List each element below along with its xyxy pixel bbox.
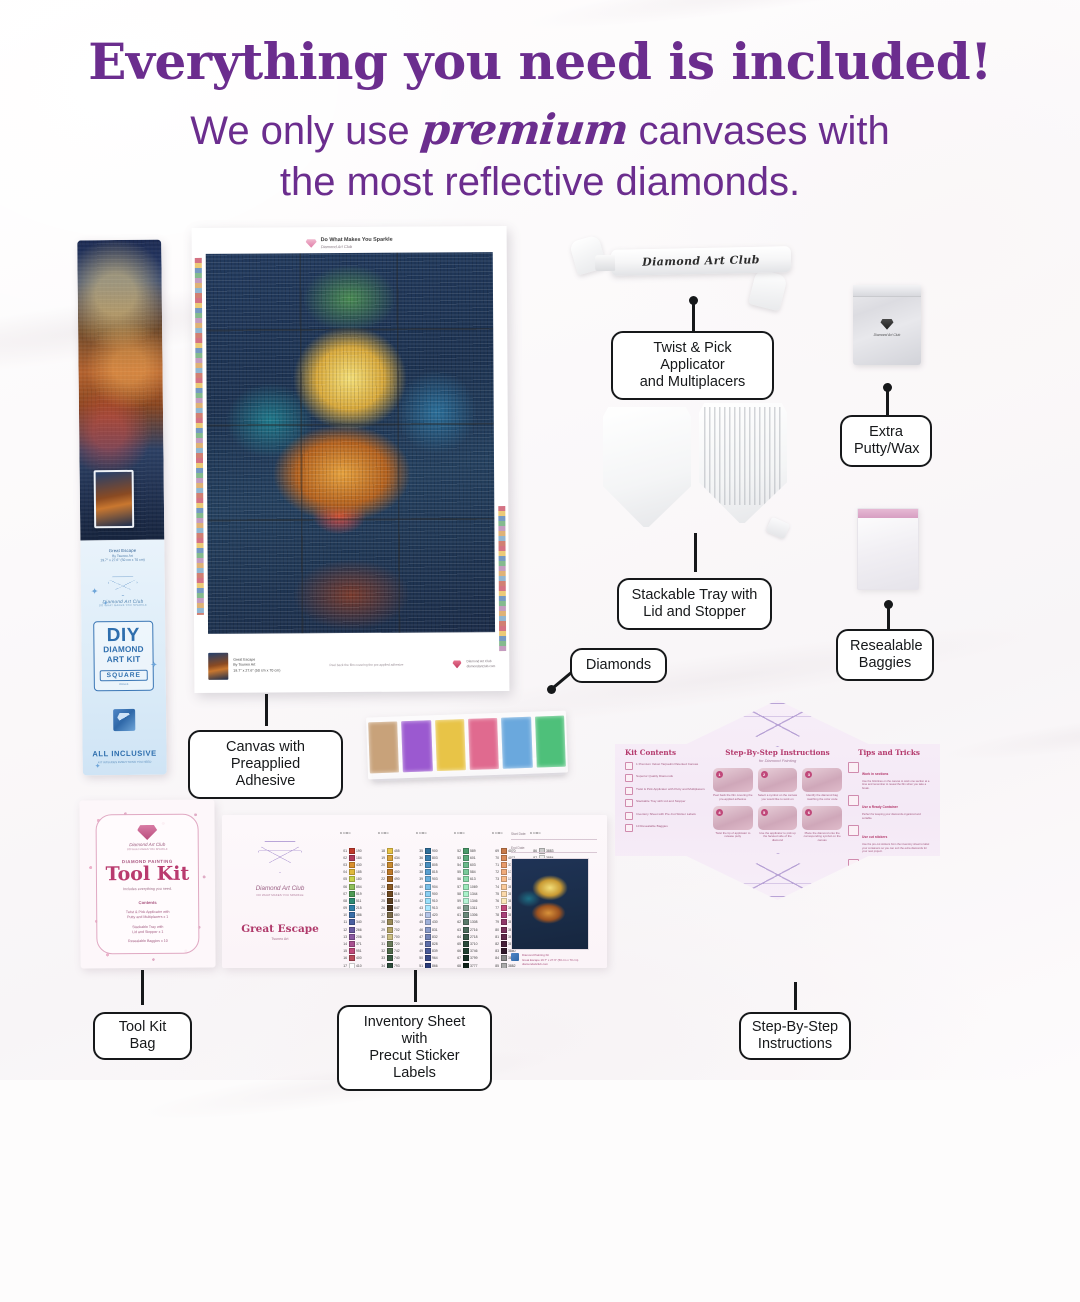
inventory-number: 33 [378, 956, 385, 960]
inventory-dmc: 1344 [470, 892, 483, 896]
kit-contents-heading: Kit Contents [625, 748, 707, 757]
diamond-icon [881, 319, 894, 330]
inventory-dmc: 720 [394, 942, 407, 946]
inventory-swatch [425, 891, 431, 897]
diamond-icon [258, 841, 302, 873]
inventory-row: 632716 [454, 926, 483, 933]
inventory-swatch [349, 927, 355, 933]
inventory-row: 12266 [340, 926, 369, 933]
inventory-number: 52 [454, 849, 461, 853]
inventory-number: 65 [454, 942, 461, 946]
inventory-swatch [463, 948, 469, 954]
inventory-dmc: 647 [394, 906, 407, 910]
inventory-swatch [387, 869, 393, 875]
inventory-number: 10 [340, 913, 347, 917]
inventory-swatch [349, 941, 355, 947]
inventory-swatch [501, 862, 507, 868]
inventory-swatch [387, 927, 393, 933]
inventory-swatch [463, 905, 469, 911]
inventory-number: 55 [454, 870, 461, 874]
inventory-dmc: 1069 [470, 885, 483, 889]
step-number: 3 [805, 771, 812, 778]
inventory-swatch [501, 884, 507, 890]
inventory-swatch [349, 891, 355, 897]
inventory-number: 43 [416, 906, 423, 910]
stackable-tray-grooved [699, 403, 787, 523]
inventory-number: 42 [416, 899, 423, 903]
inventory-row: 36803 [416, 854, 445, 861]
inventory-number: 48 [416, 942, 423, 946]
stackable-tray-lid [603, 407, 691, 527]
subtitle-pre: We only use [190, 109, 421, 153]
diamond-baggies-strip [366, 711, 568, 780]
step-text: Use the applicator to pick up the facete… [758, 832, 798, 843]
step-photo: 4 [713, 806, 753, 830]
inventory-dmc: 702 [394, 928, 407, 932]
inventory-row: 04185 [340, 869, 369, 876]
inventory-row: 19434 [378, 854, 407, 861]
toolkit-content-item: Resealable Baggies x 10 [97, 939, 198, 945]
kit-item-label: Stackable Tray with Lid and Stopper [636, 799, 686, 803]
inventory-start-rule [511, 839, 597, 840]
kit-item-icon [625, 799, 633, 807]
inventory-dmc: 2718 [470, 935, 483, 939]
inventory-swatch [349, 905, 355, 911]
diy-box-panel: Great Escape By Tsuneo Art 19.7" x 27.6"… [80, 540, 166, 776]
inventory-row: 52589 [454, 847, 483, 854]
inventory-row: 34793 [378, 962, 407, 968]
inventory-row: 663746 [454, 948, 483, 955]
inventory-number: 17 [340, 964, 347, 968]
inventory-number: 34 [378, 964, 385, 968]
sparkle-icon: ✦ [103, 600, 108, 607]
gem-icon [511, 953, 519, 961]
inventory-dmc: 900 [432, 892, 445, 896]
instructions-subtitle: for Diamond Painting [713, 758, 842, 763]
step-photo: 6 [802, 806, 842, 830]
inventory-number: 74 [492, 885, 499, 889]
inventory-swatch [501, 855, 507, 861]
step-number: 2 [761, 771, 768, 778]
inventory-row: 16400 [340, 955, 369, 962]
tip-title: Use cut stickers [862, 835, 887, 839]
step-text: Place the diamond onto the corresponding… [802, 832, 842, 843]
instruction-step: 6Place the diamond onto the correspondin… [802, 806, 842, 843]
inventory-row: 17410 [340, 962, 369, 968]
inventory-swatch [425, 876, 431, 882]
inventory-row: 10386 [340, 912, 369, 919]
inventory-number: 08 [340, 899, 347, 903]
tip-text: Perfect for keeping your diamonds organi… [862, 813, 930, 820]
inventory-row: 22490 [378, 876, 407, 883]
inventory-row: 44420 [416, 912, 445, 919]
pen-brand-text: Diamond Art Club [642, 253, 760, 268]
callout-diamonds[interactable]: Diamonds [570, 648, 667, 683]
inventory-number: 37 [416, 863, 423, 867]
step-photo: 2 [758, 768, 798, 792]
inventory-dmc: 3777 [470, 964, 483, 968]
inventory-number: 03 [340, 863, 347, 867]
inventory-number: 24 [378, 892, 385, 896]
canvas-color-strip-right [498, 506, 506, 651]
inventory-number: 31 [378, 942, 385, 946]
inventory-dmc: 371 [356, 942, 369, 946]
inventory-number: 30 [378, 935, 385, 939]
inventory-dmc: 400 [394, 870, 407, 874]
callout-applicator[interactable]: Twist & Pick Applicator and Multiplacers [611, 331, 774, 400]
inventory-row: 581344 [454, 890, 483, 897]
inventory-dmc: 1306 [470, 913, 483, 917]
toolkit-content-item: Lid and Stopper x 1 [97, 929, 198, 935]
kit-item-icon [625, 762, 633, 770]
inventory-row: 55584 [454, 869, 483, 876]
inventory-end-rule [511, 852, 597, 853]
inventory-number: 32 [378, 949, 385, 953]
tip-item: Work in sectionsUse the fold-lines on th… [848, 762, 930, 790]
subtitle-script-premium: premium [418, 103, 630, 157]
inventory-row: 05180 [340, 876, 369, 883]
canvas-tagline: Do What Makes You Sparkle [321, 237, 393, 244]
inventory-swatch [425, 848, 431, 854]
inventory-swatch [501, 898, 507, 904]
inventory-number: 29 [378, 928, 385, 932]
inventory-footer: Diamond Painting Kit Great Escape 19.7" … [511, 953, 597, 966]
inventory-swatch [349, 898, 355, 904]
kit-item-icon [625, 812, 633, 820]
inventory-swatch [425, 905, 431, 911]
inventory-swatch [463, 848, 469, 854]
inventory-swatch [349, 876, 355, 882]
kit-item-label: 10 Resealable Baggies [636, 824, 668, 828]
inventory-dmc: 340 [356, 920, 369, 924]
inventory-number: 12 [340, 928, 347, 932]
instruction-step: 5Use the applicator to pick up the facet… [758, 806, 798, 843]
leader-line [887, 604, 890, 630]
inventory-row: 653710 [454, 940, 483, 947]
inventory-right-panel: Start Date: End Date: Diamond Painting K… [511, 831, 597, 966]
tips-heading: Tips and Tricks [848, 748, 930, 757]
leader-line [141, 970, 144, 1005]
inventory-design-name: Great Escape [232, 923, 328, 935]
kit-item-label: Superior Quality Diamonds [636, 774, 673, 778]
inventory-number: 04 [340, 870, 347, 874]
callout-tray[interactable]: Stackable Tray with Lid and Stopper [617, 578, 772, 630]
inventory-row: 35900 [416, 847, 445, 854]
callout-instructions[interactable]: Step-By-Step Instructions [739, 1012, 851, 1060]
inventory-dmc: 904 [432, 885, 445, 889]
inventory-row: 33740 [378, 955, 407, 962]
inventory-number: 20 [378, 863, 385, 867]
inventory-number: 19 [378, 856, 385, 860]
inventory-row: 37805 [416, 861, 445, 868]
inventory-number: 35 [416, 849, 423, 853]
leader-line [886, 387, 889, 416]
inventory-swatch [501, 919, 507, 925]
inventory-dmc: 386 [356, 913, 369, 917]
inventory-swatch [387, 905, 393, 911]
inventory-number: 73 [492, 877, 499, 881]
inventory-swatch [501, 948, 507, 954]
inventory-row: 38815 [416, 869, 445, 876]
diamond-outline-icon [718, 853, 838, 897]
inventory-row: 39903 [416, 876, 445, 883]
tips-column: Tips and Tricks Work in sectionsUse the … [848, 748, 930, 852]
tip-title: Work in sections [862, 772, 888, 776]
instruction-body: Kit Contents 1 Premium Velvet Tarpaulin … [615, 748, 940, 852]
inventory-brand: Diamond Art Club [232, 885, 328, 892]
callout-toolkit[interactable]: Tool Kit Bag [93, 1012, 192, 1060]
inventory-swatch [425, 862, 431, 868]
diy-size: 19.7" x 27.6" (50 cm x 70 cm) [81, 558, 165, 563]
diamond-baggie [366, 716, 401, 779]
inventory-number: 58 [454, 892, 461, 896]
inventory-swatch [425, 884, 431, 890]
inventory-row: 47832 [416, 933, 445, 940]
inventory-swatch [501, 848, 507, 854]
kit-item-label: 1 Premium Velvet Tarpaulin Patented Canv… [636, 762, 698, 766]
inventory-swatch [349, 919, 355, 925]
kit-contents-item: Twist & Pick Applicator with Putty and M… [625, 787, 707, 795]
kit-item-icon [625, 824, 633, 832]
inventory-row: 32742 [378, 948, 407, 955]
inventory-dmc: 680 [394, 913, 407, 917]
inventory-dmc: 1346 [470, 899, 483, 903]
inventory-row: 06854 [340, 883, 369, 890]
inventory-dmc: 206 [356, 935, 369, 939]
inventory-dmc: 518 [394, 899, 407, 903]
inventory-row: 28700 [378, 919, 407, 926]
diy-brand-tagline: DO WHAT MAKES YOU SPARKLE [81, 604, 165, 608]
callout-putty[interactable]: Extra Putty/Wax [840, 415, 932, 467]
leader-line [794, 982, 797, 1010]
inventory-row: 23498 [378, 883, 407, 890]
tray-stopper [766, 517, 791, 540]
inventory-number: 53 [454, 856, 461, 860]
canvas-footer-size: 19.7" x 27.6" (50 cm x 70 cm) [233, 668, 280, 674]
inventory-number: 16 [340, 956, 347, 960]
inventory-row: 26647 [378, 905, 407, 912]
step-photo: 1 [713, 768, 753, 792]
diy-all-inclusive: ALL INCLUSIVE [83, 748, 167, 758]
inventory-row: 30700 [378, 933, 407, 940]
inventory-swatch [463, 934, 469, 940]
inventory-number: 22 [378, 877, 385, 881]
inventory-dmc: 511 [356, 899, 369, 903]
inventory-row: 03430 [340, 861, 369, 868]
inventory-row: 48828 [416, 940, 445, 947]
instruction-step: 4Twist the tip of applicator to release … [713, 806, 753, 843]
inventory-swatch [501, 955, 507, 961]
inventory-dmc: 740 [394, 956, 407, 960]
inventory-row: 07519 [340, 890, 369, 897]
inventory-swatch [425, 855, 431, 861]
inventory-branding: Diamond Art Club DO WHAT MAKES YOU SPARK… [232, 841, 328, 941]
inventory-row: 683777 [454, 962, 483, 968]
inventory-swatch [463, 869, 469, 875]
step-text: Select a symbol on the canvas you would … [758, 794, 798, 802]
inventory-dmc: 903 [432, 877, 445, 881]
inventory-number: 75 [492, 892, 499, 896]
inventory-number: 59 [454, 899, 461, 903]
step-number: 4 [716, 809, 723, 816]
inventory-swatch [349, 963, 355, 968]
inventory-swatch [501, 934, 507, 940]
inventory-swatch [387, 891, 393, 897]
tip-icon [848, 795, 859, 806]
tip-icon [848, 825, 859, 836]
canvas-brand: Diamond Art Club [321, 244, 393, 249]
inventory-number: 69 [492, 849, 499, 853]
step-number: 6 [805, 809, 812, 816]
inventory-number: 67 [454, 956, 461, 960]
step-by-step-instruction-sheet: Kit Contents 1 Premium Velvet Tarpaulin … [615, 700, 940, 900]
instruction-step: 1Peel back the film covering the pre-app… [713, 768, 753, 802]
tip-item: Use a Ready ContainerPerfect for keeping… [848, 795, 930, 820]
leader-line [694, 533, 697, 572]
inventory-dmc: 815 [432, 870, 445, 874]
inventory-brand-sub: DO WHAT MAKES YOU SPARKLE [232, 893, 328, 897]
canvas-artwork [206, 252, 495, 634]
kit-contents-column: Kit Contents 1 Premium Velvet Tarpaulin … [625, 748, 707, 852]
inventory-row: 11340 [340, 919, 369, 926]
inventory-swatch [425, 955, 431, 961]
inventory-number: 38 [416, 870, 423, 874]
kit-item-icon [625, 787, 633, 795]
inventory-number: 39 [416, 877, 423, 881]
inventory-dmc: 900 [432, 849, 445, 853]
diamond-baggie [466, 713, 501, 776]
inventory-row: 29702 [378, 926, 407, 933]
inventory-swatch [463, 955, 469, 961]
inventory-number: 71 [492, 863, 499, 867]
diamond-painting-canvas: Do What Makes You Sparkle Diamond Art Cl… [192, 226, 510, 693]
inventory-number: 36 [416, 856, 423, 860]
inventory-swatch [349, 955, 355, 961]
inventory-dmc: 180 [356, 877, 369, 881]
inventory-number: 63 [454, 928, 461, 932]
inventory-number: 14 [340, 942, 347, 946]
inventory-number: 40 [416, 885, 423, 889]
inventory-dmc: 603 [470, 863, 483, 867]
inventory-number: 01 [340, 849, 347, 853]
inventory-dmc: 584 [470, 870, 483, 874]
leader-line [414, 970, 417, 1002]
sparkle-icon: ✦ [150, 660, 158, 671]
inventory-row: 49839 [416, 948, 445, 955]
inventory-number: 09 [340, 906, 347, 910]
canvas-footer-thumbnail [208, 652, 228, 679]
inventory-column-header: D DMC [454, 831, 483, 847]
inventory-dmc: 700 [394, 935, 407, 939]
inventory-dmc: 266 [356, 928, 369, 932]
kit-contents-item: 10 Resealable Baggies [625, 824, 707, 832]
inventory-number: 44 [416, 913, 423, 917]
diamond-icon [108, 576, 138, 596]
inventory-swatch [501, 905, 507, 911]
inventory-swatch [463, 912, 469, 918]
inventory-row: 20450 [378, 861, 407, 868]
diy-kit-box: Great Escape By Tsuneo Art 19.7" x 27.6"… [77, 240, 167, 776]
inventory-dmc: 3746 [470, 949, 483, 953]
pen-tip [595, 255, 615, 271]
tip-text: Use the attachments to quickly place 2, … [862, 877, 930, 884]
steps-column: Step-By-Step Instructions for Diamond Pa… [707, 748, 848, 852]
instructions-title: Step-By-Step Instructions [713, 748, 842, 757]
inventory-dmc: 420 [432, 913, 445, 917]
callout-inventory[interactable]: Inventory Sheet with Precut Sticker Labe… [337, 1005, 492, 1091]
inventory-artist: Tsuneo Art [232, 937, 328, 941]
inventory-row: 13206 [340, 933, 369, 940]
inventory-number: 07 [340, 892, 347, 896]
inventory-dmc: 434 [394, 856, 407, 860]
infographic-stage: Everything you need is included! We only… [0, 0, 1080, 1080]
tip-item: Use cut stickersUse the pre-cut stickers… [848, 825, 930, 853]
diy-badge: DIY DIAMOND ART KIT SQUARE DRILLS [93, 621, 154, 691]
diamond-icon [453, 660, 462, 668]
callout-baggies[interactable]: Resealable Baggies [836, 629, 934, 681]
diamond-baggie [399, 715, 434, 778]
callout-canvas[interactable]: Canvas with Preapplied Adhesive [188, 730, 343, 799]
inventory-swatch [463, 862, 469, 868]
inventory-number: 84 [492, 956, 499, 960]
inventory-swatch [387, 963, 393, 968]
kit-contents-item: Inventory Sheet with Pre-Cut Sticker Lab… [625, 812, 707, 820]
inventory-row: 54603 [454, 861, 483, 868]
tool-kit-bag: Diamond Art Club DO WHAT MAKES YOU SPARK… [79, 800, 215, 969]
inventory-row: 02184 [340, 854, 369, 861]
inventory-swatch [463, 891, 469, 897]
inventory-dmc: 805 [432, 863, 445, 867]
inventory-number: 62 [454, 920, 461, 924]
inventory-swatch [387, 876, 393, 882]
inventory-dmc: 854 [356, 885, 369, 889]
inventory-dmc: 450 [394, 863, 407, 867]
tip-item: MultiplacersUse the attachments to quick… [848, 859, 930, 884]
inventory-row: 46831 [416, 926, 445, 933]
leader-line [265, 694, 268, 726]
inventory-swatch [463, 855, 469, 861]
kit-contents-item: Stackable Tray with Lid and Stopper [625, 799, 707, 807]
tool-kit-card: Diamond Art Club DO WHAT MAKES YOU SPARK… [96, 814, 200, 955]
inventory-dmc: 793 [394, 964, 407, 968]
inventory-column-header: D DMC [416, 831, 445, 847]
toolkit-brand-sub: DO WHAT MAKES YOU SPARKLE [97, 848, 198, 852]
kit-item-label: Inventory Sheet with Pre-Cut Sticker Lab… [636, 812, 696, 816]
inventory-swatch [387, 848, 393, 854]
inventory-swatch [425, 912, 431, 918]
inventory-row: 27680 [378, 912, 407, 919]
inventory-swatch [463, 941, 469, 947]
step-number: 5 [761, 809, 768, 816]
inventory-dmc: 185 [356, 870, 369, 874]
leader-line [692, 300, 695, 332]
inventory-dmc: 1311 [470, 906, 483, 910]
diamond-baggie [499, 712, 534, 775]
inventory-row: 642718 [454, 933, 483, 940]
tip-icon [848, 859, 859, 870]
inventory-row: 56613 [454, 876, 483, 883]
subtitle-post: canvases with [627, 109, 889, 153]
inventory-dmc: 742 [394, 949, 407, 953]
tip-text: Use the fold-lines on the canvas to work… [862, 780, 930, 790]
gem-icon [113, 709, 135, 731]
inventory-dmc: 455 [394, 849, 407, 853]
toolkit-title: Tool Kit [97, 865, 198, 885]
inventory-dmc: 400 [356, 956, 369, 960]
inventory-number: 61 [454, 913, 461, 917]
kit-item-label: Twist & Pick Applicator with Putty and M… [636, 787, 705, 791]
inventory-number: 51 [416, 964, 423, 968]
